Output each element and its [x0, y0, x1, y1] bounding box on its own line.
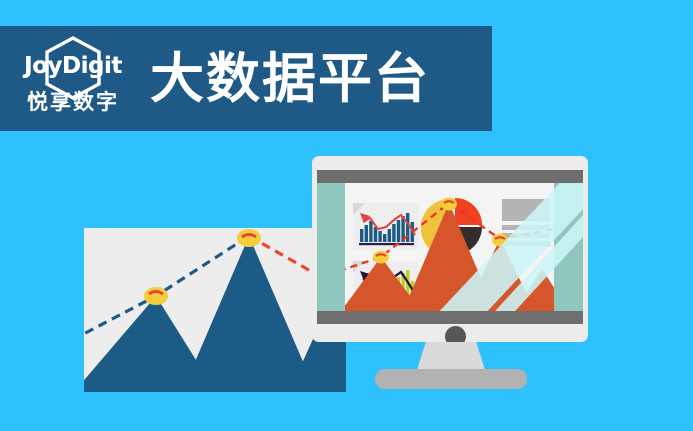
logo-wordmark-en: JoyDigit — [24, 55, 122, 78]
monitor-base — [375, 369, 527, 389]
desktop-monitor — [312, 156, 588, 388]
screen-glare — [317, 183, 583, 311]
brand-logo[interactable]: JoyDigit 悦享数字 — [14, 29, 132, 129]
illustration-canvas: JoyDigit 悦享数字 大数据平台 — [0, 0, 693, 431]
mountain-analytics-svg — [84, 228, 346, 392]
logo-wordmark-cn: 悦享数字 — [27, 92, 119, 113]
mountain-shape-center — [182, 236, 316, 392]
monitor-top-bar — [317, 170, 583, 183]
monitor-screen — [317, 183, 583, 311]
mountain-analytics-panel — [84, 228, 346, 392]
page-title: 大数据平台 — [150, 52, 430, 106]
data-marker-1 — [144, 287, 168, 305]
monitor-bottom-bar — [317, 311, 583, 324]
header-banner: JoyDigit 悦享数字 大数据平台 — [0, 26, 492, 131]
data-marker-2 — [237, 229, 261, 247]
